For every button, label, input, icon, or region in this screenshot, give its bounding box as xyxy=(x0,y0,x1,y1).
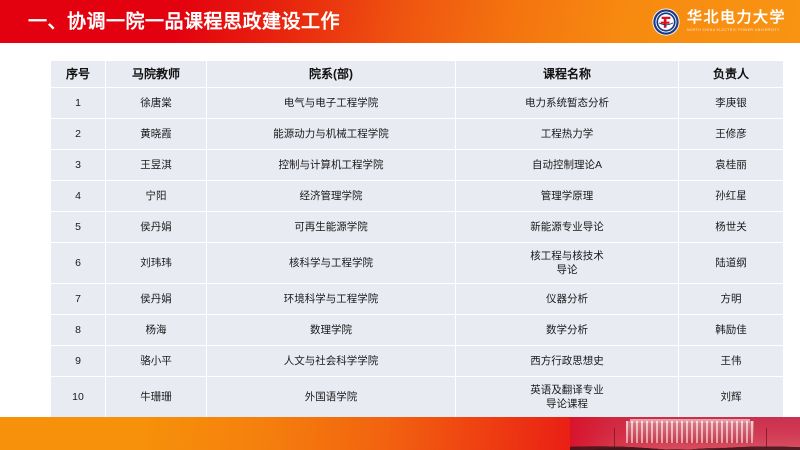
column-header-department: 院系(部) xyxy=(207,61,455,87)
cell-owner: 杨世关 xyxy=(679,212,783,242)
column-header-index: 序号 xyxy=(51,61,105,87)
cell-teacher: 宁阳 xyxy=(106,181,206,211)
cell-course: 英语及翻译专业 导论课程 xyxy=(456,377,678,417)
cell-index: 8 xyxy=(51,315,105,345)
cell-course-line2: 导论 xyxy=(458,263,676,277)
course-table-container: 序号 马院教师 院系(部) 课程名称 负责人 1 徐唐棠 电气与电子工程学院 电… xyxy=(50,60,760,418)
cell-index: 10 xyxy=(51,377,105,417)
table-header-row: 序号 马院教师 院系(部) 课程名称 负责人 xyxy=(51,61,783,87)
university-logo: 华北电力大学 NORTH CHINA ELECTRIC POWER UNIVER… xyxy=(652,8,786,36)
cell-department: 外国语学院 xyxy=(207,377,455,417)
photo-treeline xyxy=(570,435,800,450)
cell-owner: 袁桂丽 xyxy=(679,150,783,180)
cell-teacher: 徐唐棠 xyxy=(106,88,206,118)
table-head: 序号 马院教师 院系(部) 课程名称 负责人 xyxy=(51,61,783,87)
table-row: 2 黄晓霞 能源动力与机械工程学院 工程热力学 王修彦 xyxy=(51,119,783,149)
cell-owner: 王伟 xyxy=(679,346,783,376)
page-title: 一、协调一院一品课程思政建设工作 xyxy=(28,12,340,31)
cell-teacher: 侯丹娟 xyxy=(106,212,206,242)
slide: 一、协调一院一品课程思政建设工作 华北电力大学 NORTH CHINA ELEC… xyxy=(0,0,800,450)
cell-index: 5 xyxy=(51,212,105,242)
cell-course: 西方行政思想史 xyxy=(456,346,678,376)
cell-teacher: 黄晓霞 xyxy=(106,119,206,149)
university-name-cn: 华北电力大学 xyxy=(687,11,786,26)
column-header-owner: 负责人 xyxy=(679,61,783,87)
table-row: 4 宁阳 经济管理学院 管理学原理 孙红星 xyxy=(51,181,783,211)
cell-course: 仪器分析 xyxy=(456,284,678,314)
column-header-course: 课程名称 xyxy=(456,61,678,87)
cell-owner: 刘辉 xyxy=(679,377,783,417)
cell-course-line1: 英语及翻译专业 xyxy=(458,383,676,397)
cell-teacher: 牛珊珊 xyxy=(106,377,206,417)
cell-index: 2 xyxy=(51,119,105,149)
cell-owner: 方明 xyxy=(679,284,783,314)
cell-index: 9 xyxy=(51,346,105,376)
cell-course-line2: 导论课程 xyxy=(458,397,676,411)
cell-course: 电力系统暂态分析 xyxy=(456,88,678,118)
cell-index: 3 xyxy=(51,150,105,180)
table-row: 1 徐唐棠 电气与电子工程学院 电力系统暂态分析 李庚银 xyxy=(51,88,783,118)
cell-owner: 孙红星 xyxy=(679,181,783,211)
table-row: 3 王昱淇 控制与计算机工程学院 自动控制理论A 袁桂丽 xyxy=(51,150,783,180)
table-row: 9 骆小平 人文与社会科学学院 西方行政思想史 王伟 xyxy=(51,346,783,376)
campus-building-photo xyxy=(570,417,800,450)
cell-course: 自动控制理论A xyxy=(456,150,678,180)
cell-course: 新能源专业导论 xyxy=(456,212,678,242)
table-row: 7 侯丹娟 环境科学与工程学院 仪器分析 方明 xyxy=(51,284,783,314)
cell-teacher: 王昱淇 xyxy=(106,150,206,180)
slide-header-bar: 一、协调一院一品课程思政建设工作 华北电力大学 NORTH CHINA ELEC… xyxy=(0,0,800,43)
column-header-teacher: 马院教师 xyxy=(106,61,206,87)
cell-department: 数理学院 xyxy=(207,315,455,345)
cell-owner: 陆道纲 xyxy=(679,243,783,283)
course-assignment-table: 序号 马院教师 院系(部) 课程名称 负责人 1 徐唐棠 电气与电子工程学院 电… xyxy=(50,60,784,418)
university-crest-icon xyxy=(652,8,680,36)
cell-owner: 王修彦 xyxy=(679,119,783,149)
cell-index: 7 xyxy=(51,284,105,314)
cell-index: 1 xyxy=(51,88,105,118)
cell-teacher: 骆小平 xyxy=(106,346,206,376)
cell-teacher: 侯丹娟 xyxy=(106,284,206,314)
cell-index: 4 xyxy=(51,181,105,211)
table-body: 1 徐唐棠 电气与电子工程学院 电力系统暂态分析 李庚银 2 黄晓霞 能源动力与… xyxy=(51,88,783,417)
cell-department: 控制与计算机工程学院 xyxy=(207,150,455,180)
cell-department: 人文与社会科学学院 xyxy=(207,346,455,376)
university-name-en: NORTH CHINA ELECTRIC POWER UNIVERSITY xyxy=(687,29,780,33)
university-logo-text: 华北电力大学 NORTH CHINA ELECTRIC POWER UNIVER… xyxy=(687,11,786,32)
cell-department: 环境科学与工程学院 xyxy=(207,284,455,314)
cell-course: 管理学原理 xyxy=(456,181,678,211)
cell-department: 可再生能源学院 xyxy=(207,212,455,242)
cell-department: 能源动力与机械工程学院 xyxy=(207,119,455,149)
cell-course: 数学分析 xyxy=(456,315,678,345)
table-row: 5 侯丹娟 可再生能源学院 新能源专业导论 杨世关 xyxy=(51,212,783,242)
cell-course: 核工程与核技术 导论 xyxy=(456,243,678,283)
cell-index: 6 xyxy=(51,243,105,283)
cell-course: 工程热力学 xyxy=(456,119,678,149)
cell-department: 经济管理学院 xyxy=(207,181,455,211)
cell-owner: 韩励佳 xyxy=(679,315,783,345)
cell-department: 电气与电子工程学院 xyxy=(207,88,455,118)
table-row: 6 刘玮玮 核科学与工程学院 核工程与核技术 导论 陆道纲 xyxy=(51,243,783,283)
cell-teacher: 杨海 xyxy=(106,315,206,345)
table-row: 8 杨海 数理学院 数学分析 韩励佳 xyxy=(51,315,783,345)
cell-teacher: 刘玮玮 xyxy=(106,243,206,283)
slide-footer-bar xyxy=(0,417,800,450)
cell-department: 核科学与工程学院 xyxy=(207,243,455,283)
table-row: 10 牛珊珊 外国语学院 英语及翻译专业 导论课程 刘辉 xyxy=(51,377,783,417)
cell-owner: 李庚银 xyxy=(679,88,783,118)
cell-course-line1: 核工程与核技术 xyxy=(458,249,676,263)
